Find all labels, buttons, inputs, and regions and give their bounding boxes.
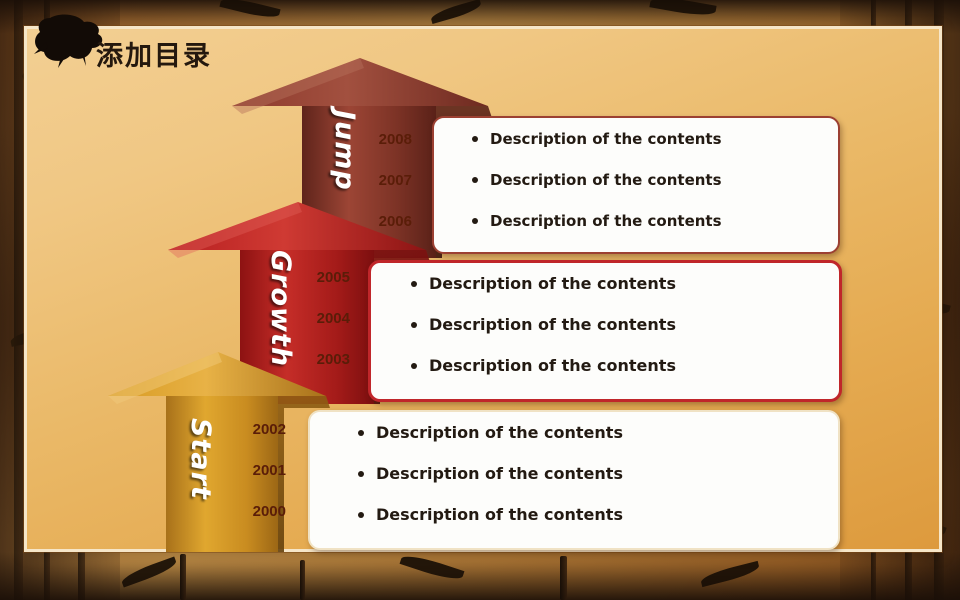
list-item-text: Description of the contents: [490, 212, 722, 230]
page-title: 添加目录: [96, 34, 212, 73]
bullet-icon: [358, 430, 364, 436]
list-item: Description of the contents: [310, 453, 838, 494]
bullet-icon: [358, 512, 364, 518]
bullet-icon: [472, 136, 478, 142]
list-item: Description of the contents: [371, 304, 839, 345]
slide-canvas: 添加目录 Jump 2008: [0, 0, 960, 600]
list-item: Description of the contents: [371, 345, 839, 386]
list-item: Description of the contents: [434, 159, 838, 200]
year-value: 2005: [290, 270, 350, 285]
list-item: Description of the contents: [434, 118, 838, 159]
arrow-label-start: Start: [185, 418, 216, 500]
bullet-icon: [411, 281, 417, 287]
arrow-start: Start: [108, 352, 330, 552]
list-item-text: Description of the contents: [490, 130, 722, 148]
content-card-start: Description of the contents Description …: [308, 410, 840, 550]
list-item-text: Description of the contents: [429, 356, 676, 375]
list-item-text: Description of the contents: [429, 274, 676, 293]
list-item: Description of the contents: [371, 263, 839, 304]
year-value: 2004: [290, 311, 350, 326]
list-item: Description of the contents: [310, 494, 838, 535]
content-card-growth: Description of the contents Description …: [368, 260, 842, 402]
bullet-icon: [411, 363, 417, 369]
list-item-text: Description of the contents: [429, 315, 676, 334]
list-item: Description of the contents: [310, 412, 838, 453]
bullet-icon: [411, 322, 417, 328]
list-item-text: Description of the contents: [376, 423, 623, 442]
bullet-icon: [472, 177, 478, 183]
bamboo-silhouette-bottom: [0, 552, 960, 600]
list-item-text: Description of the contents: [490, 171, 722, 189]
bullet-icon: [472, 218, 478, 224]
year-value: 2007: [352, 173, 412, 188]
bullet-icon: [358, 471, 364, 477]
list-item-text: Description of the contents: [376, 464, 623, 483]
year-value: 2002: [226, 422, 286, 437]
years-start: 2002 2001 2000: [226, 422, 286, 519]
year-value: 2001: [226, 463, 286, 478]
year-value: 2008: [352, 132, 412, 147]
content-card-jump: Description of the contents Description …: [432, 116, 840, 254]
year-value: 2000: [226, 504, 286, 519]
list-item: Description of the contents: [434, 200, 838, 241]
list-item-text: Description of the contents: [376, 505, 623, 524]
